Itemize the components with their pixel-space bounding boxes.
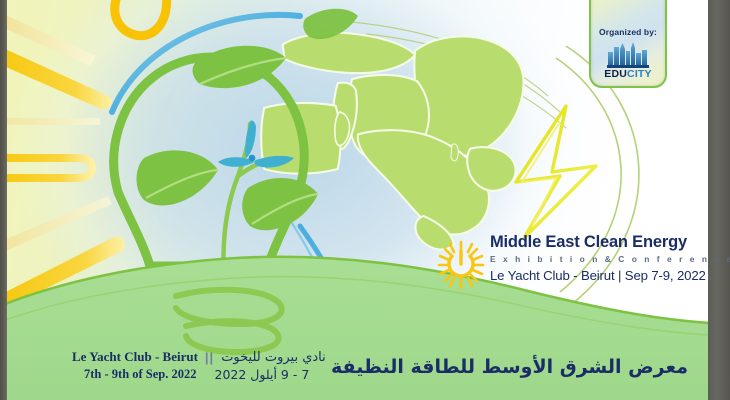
sun-power-icon bbox=[432, 238, 490, 292]
event-subtitle: E x h i b i t i o n & C o n f e r e n c … bbox=[490, 254, 712, 264]
venue-row: Le Yacht Club - Beirut || نادي بيروت للي… bbox=[72, 349, 372, 365]
organizer-badge[interactable]: Organized by: EDUCITY bbox=[589, 0, 667, 88]
sun-core-ring-icon bbox=[115, 0, 167, 36]
venue-english: Le Yacht Club - Beirut bbox=[72, 349, 198, 365]
organized-by-label: Organized by: bbox=[599, 27, 657, 37]
educity-edu-text: EDU bbox=[604, 68, 627, 80]
educity-towers-icon bbox=[606, 42, 650, 68]
frame-border-left bbox=[0, 0, 7, 400]
event-venue-date: Le Yacht Club - Beirut | Sep 7-9, 2022 bbox=[490, 268, 712, 283]
dates-row: 7th - 9th of Sep. 2022 7 - 9 أيلول 2022 bbox=[72, 367, 372, 382]
bottom-left-details: Le Yacht Club - Beirut || نادي بيروت للي… bbox=[72, 349, 372, 382]
educity-city-text: CITY bbox=[627, 68, 652, 80]
educity-wordmark: EDUCITY bbox=[604, 69, 652, 80]
arabic-event-title: معرض الشرق الأوسط للطاقة النظيفة bbox=[331, 356, 688, 378]
event-logo-lockup: Middle East Clean Energy E x h i b i t i… bbox=[432, 234, 712, 300]
event-title: Middle East Clean Energy bbox=[490, 234, 712, 251]
bottom-right-arabic-title: معرض الشرق الأوسط للطاقة النظيفة bbox=[331, 356, 688, 378]
dates-english: 7th - 9th of Sep. 2022 bbox=[84, 367, 197, 382]
dates-arabic: 7 - 9 أيلول 2022 bbox=[215, 367, 310, 382]
frame-border-right bbox=[708, 0, 730, 400]
venue-separator: || bbox=[205, 350, 214, 365]
poster-canvas: Organized by: EDUCITY bbox=[0, 0, 730, 400]
venue-arabic: نادي بيروت لليخوت bbox=[221, 350, 326, 365]
